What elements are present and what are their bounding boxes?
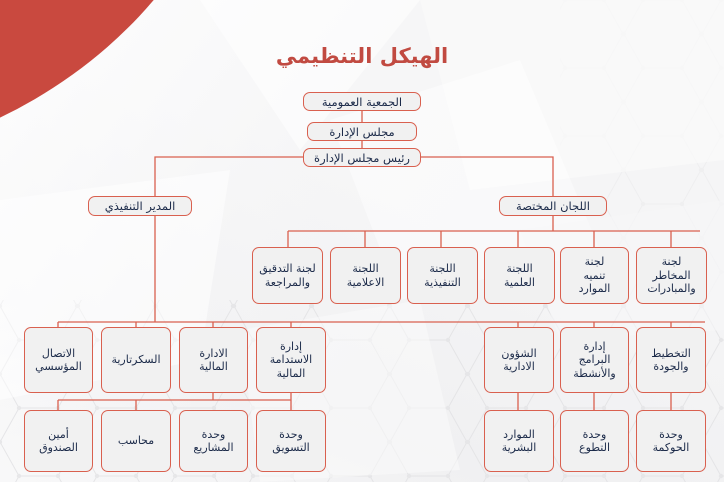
node-executive-committee[interactable]: اللجنة التنفيذية <box>407 247 478 304</box>
node-audit-committee[interactable]: لجنة التدقيق والمراجعة <box>252 247 323 304</box>
node-scientific-committee[interactable]: اللجنة العلمية <box>484 247 555 304</box>
node-chairman[interactable]: رئيس مجلس الإدارة <box>303 148 421 167</box>
node-financial-sustainability[interactable]: إدارة الاستدامة المالية <box>256 327 326 393</box>
node-governance-unit[interactable]: وحدة الحوكمة <box>636 410 706 472</box>
node-projects-unit[interactable]: وحدة المشاريع <box>179 410 248 472</box>
node-programs-activities[interactable]: إدارة البرامج والأنشطة <box>560 327 629 393</box>
node-marketing-unit[interactable]: وحدة التسويق <box>256 410 326 472</box>
node-secretariat[interactable]: السكرتارية <box>101 327 171 393</box>
node-accountant[interactable]: محاسب <box>101 410 171 472</box>
node-administrative-affairs[interactable]: الشؤون الادارية <box>484 327 554 393</box>
node-volunteering-unit[interactable]: وحدة التطوع <box>560 410 629 472</box>
node-board-of-directors[interactable]: مجلس الإدارة <box>307 122 417 141</box>
node-executive-director[interactable]: المدير التنفيذي <box>88 196 192 216</box>
node-general-assembly[interactable]: الجمعية العمومية <box>303 92 421 111</box>
node-media-committee[interactable]: اللجنة الاعلامية <box>330 247 401 304</box>
node-human-resources[interactable]: الموارد البشرية <box>484 410 554 472</box>
node-corporate-communication[interactable]: الاتصال المؤسسي <box>24 327 93 393</box>
node-financial-administration[interactable]: الادارة المالية <box>179 327 248 393</box>
node-resource-development-committee[interactable]: لجنة تنميه الموارد <box>560 247 629 304</box>
node-treasurer[interactable]: أمين الصندوق <box>24 410 93 472</box>
node-planning-quality[interactable]: التخطيط والجودة <box>636 327 706 393</box>
node-risk-initiatives-committee[interactable]: لجنة المخاطر والمبادرات <box>636 247 707 304</box>
node-specialized-committees[interactable]: اللجان المختصة <box>499 196 607 216</box>
org-chart-canvas: الهيكل التنظيمي <box>0 0 724 482</box>
